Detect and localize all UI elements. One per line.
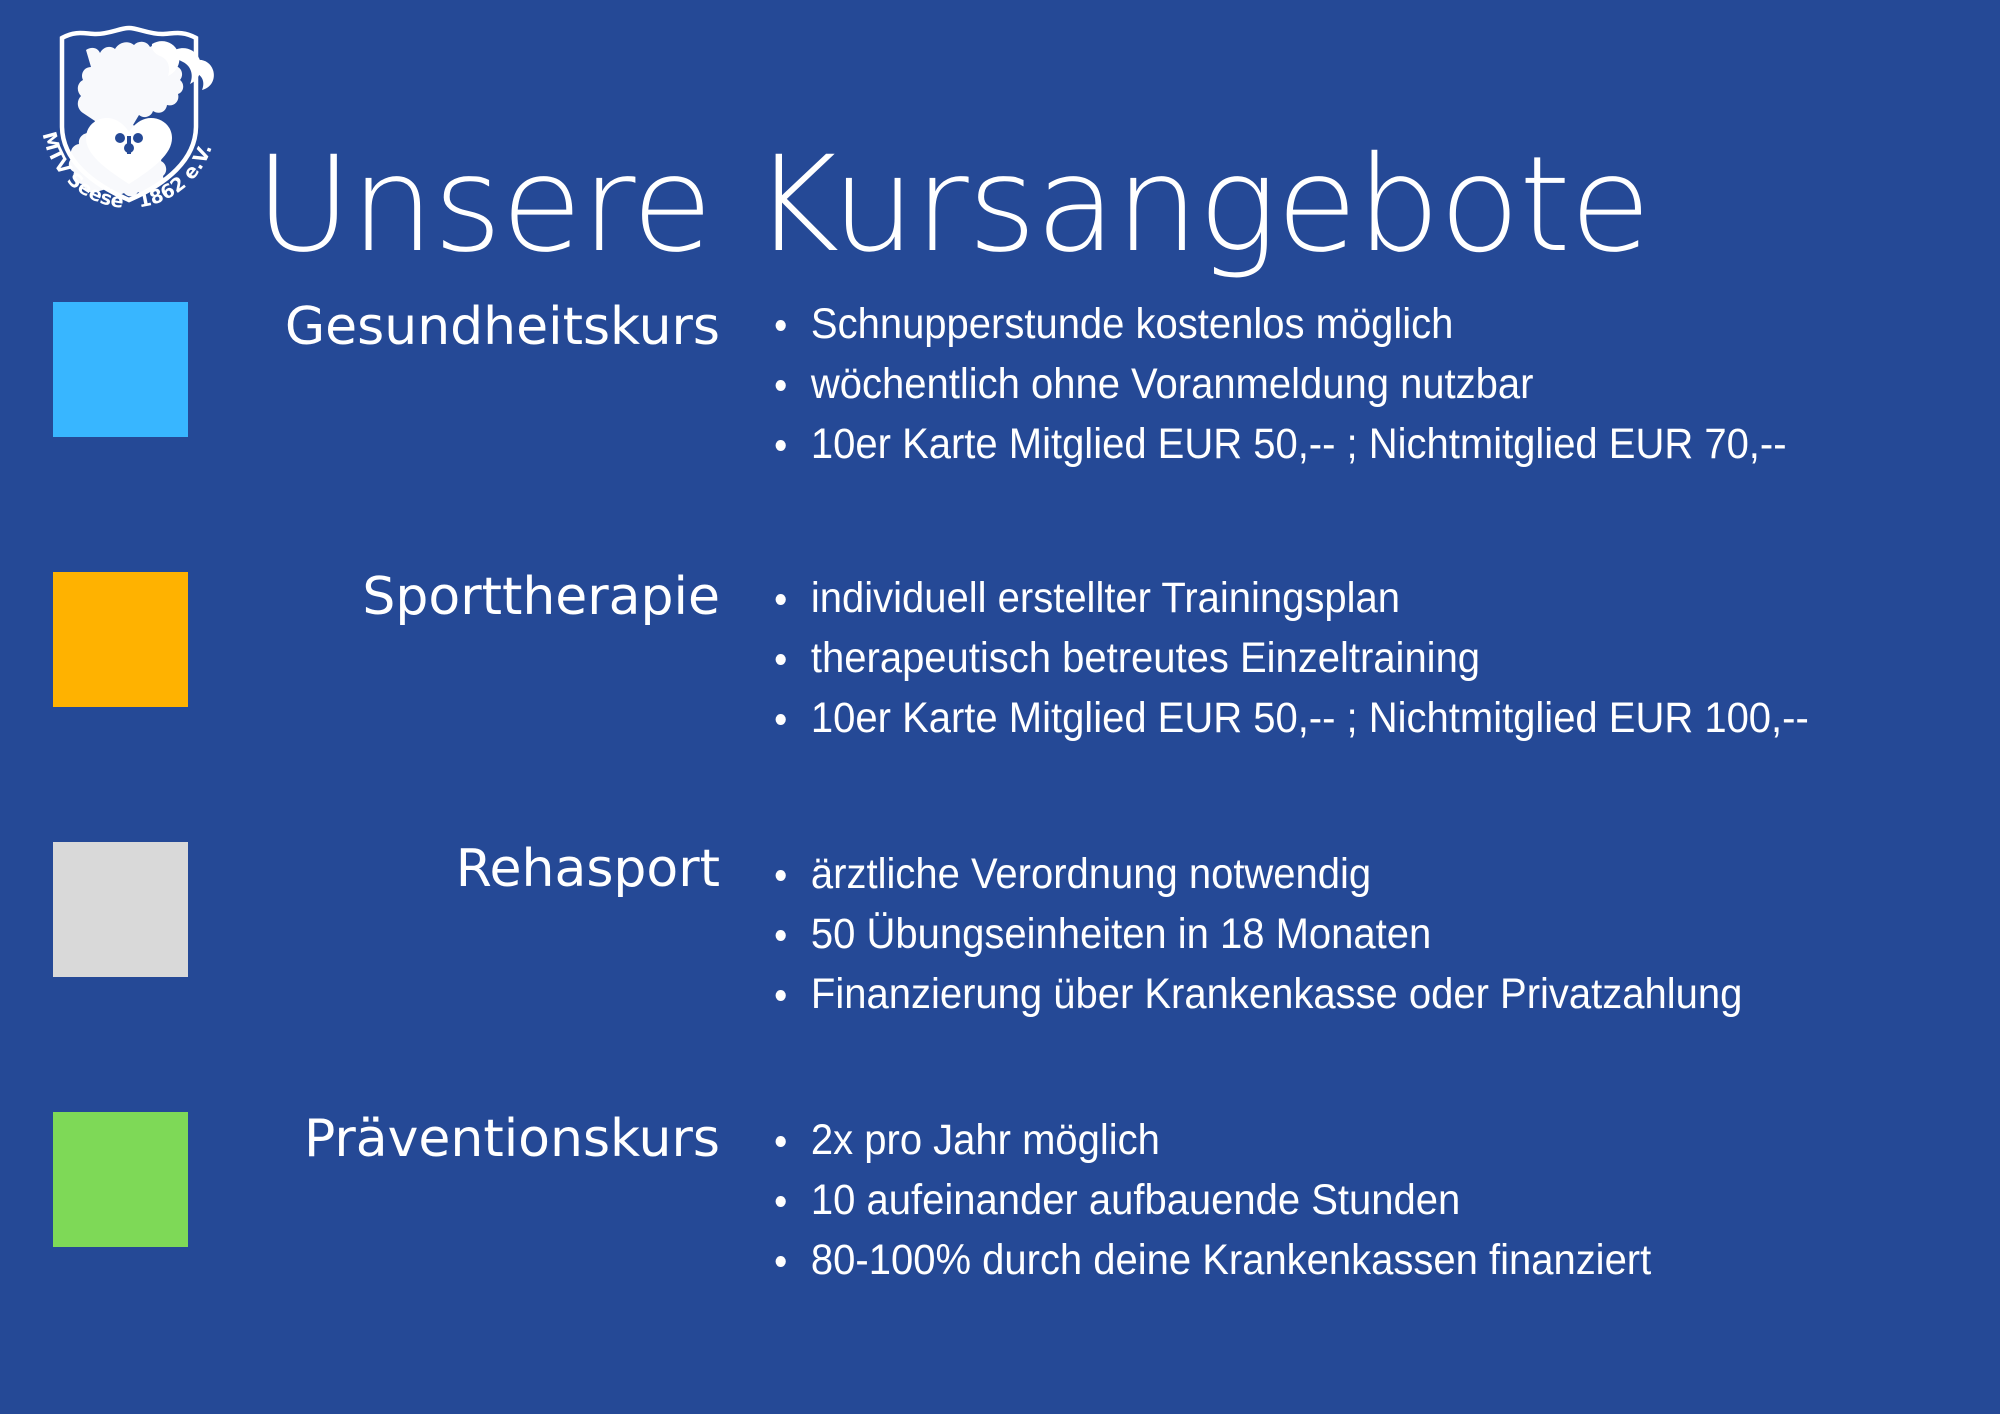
color-swatch-rehasport — [53, 842, 188, 977]
color-swatch-gesundheitskurs — [53, 302, 188, 437]
bullet-dot-icon — [776, 1256, 786, 1267]
list-item: 50 Übungseinheiten in 18 Monaten — [770, 904, 1914, 964]
color-swatch-sporttherapie — [53, 572, 188, 707]
bullet-dot-icon — [776, 594, 786, 605]
course-section-gesundheitskurs: Gesundheitskurs Schnupperstunde kostenlo… — [0, 276, 2000, 546]
bullet-text: 10er Karte Mitglied EUR 50,-- ; Nichtmit… — [811, 420, 1787, 468]
course-section-sporttherapie: Sporttherapie individuell erstellter Tra… — [0, 546, 2000, 816]
bullet-text: 10er Karte Mitglied EUR 50,-- ; Nichtmit… — [811, 694, 1809, 742]
course-section-rehasport: Rehasport ärztliche Verordnung notwendig… — [0, 816, 2000, 1086]
course-bullets-praeventionskurs: 2x pro Jahr möglich 10 aufeinander aufba… — [770, 1110, 2000, 1290]
list-item: 10er Karte Mitglied EUR 50,-- ; Nichtmit… — [770, 414, 1914, 474]
page-title: Unsere Kursangebote — [255, 136, 1955, 276]
course-title-rehasport: Rehasport — [200, 842, 720, 897]
bullet-dot-icon — [776, 654, 786, 665]
list-item: 10er Karte Mitglied EUR 50,-- ; Nichtmit… — [770, 688, 1914, 748]
list-item: Finanzierung über Krankenkasse oder Priv… — [770, 964, 1914, 1024]
bullet-text: wöchentlich ohne Voranmeldung nutzbar — [811, 360, 1534, 408]
bullet-dot-icon — [776, 1136, 786, 1147]
list-item: 10 aufeinander aufbauende Stunden — [770, 1170, 1914, 1230]
bullet-text: Schnupperstunde kostenlos möglich — [811, 300, 1453, 348]
bullet-text: ärztliche Verordnung notwendig — [811, 850, 1371, 898]
bullet-dot-icon — [776, 1196, 786, 1207]
course-title-sporttherapie: Sporttherapie — [200, 570, 720, 625]
course-bullets-sporttherapie: individuell erstellter Trainingsplan the… — [770, 568, 2000, 748]
bullet-dot-icon — [776, 380, 786, 391]
bullet-text: 80-100% durch deine Krankenkassen finanz… — [811, 1236, 1651, 1284]
bullet-dot-icon — [776, 870, 786, 881]
list-item: 2x pro Jahr möglich — [770, 1110, 1914, 1170]
course-sections: Gesundheitskurs Schnupperstunde kostenlo… — [0, 276, 2000, 1356]
list-item: individuell erstellter Trainingsplan — [770, 568, 1914, 628]
bullet-text: individuell erstellter Trainingsplan — [811, 574, 1400, 622]
bullet-dot-icon — [776, 930, 786, 941]
bullet-text: 10 aufeinander aufbauende Stunden — [811, 1176, 1460, 1224]
course-bullets-gesundheitskurs: Schnupperstunde kostenlos möglich wöchen… — [770, 294, 2000, 474]
bullet-text: 50 Übungseinheiten in 18 Monaten — [811, 910, 1431, 958]
list-item: ärztliche Verordnung notwendig — [770, 844, 1914, 904]
bullet-dot-icon — [776, 320, 786, 331]
crest-icon: MTV Seesen v. 1862 e.V. — [24, 8, 234, 218]
bullet-text: therapeutisch betreutes Einzeltraining — [811, 634, 1480, 682]
bullet-dot-icon — [776, 714, 786, 725]
color-swatch-praeventionskurs — [53, 1112, 188, 1247]
list-item: therapeutisch betreutes Einzeltraining — [770, 628, 1914, 688]
list-item: Schnupperstunde kostenlos möglich — [770, 294, 1914, 354]
bullet-text: Finanzierung über Krankenkasse oder Priv… — [811, 970, 1742, 1018]
club-logo: MTV Seesen v. 1862 e.V. — [24, 8, 234, 218]
list-item: 80-100% durch deine Krankenkassen finanz… — [770, 1230, 1914, 1290]
course-bullets-rehasport: ärztliche Verordnung notwendig 50 Übungs… — [770, 844, 2000, 1024]
course-section-praeventionskurs: Präventionskurs 2x pro Jahr möglich 10 a… — [0, 1086, 2000, 1356]
bullet-dot-icon — [776, 990, 786, 1001]
poster-canvas: MTV Seesen v. 1862 e.V. Unsere Kursangeb… — [0, 0, 2000, 1414]
course-title-gesundheitskurs: Gesundheitskurs — [200, 300, 720, 355]
course-title-praeventionskurs: Präventionskurs — [200, 1112, 720, 1167]
bullet-dot-icon — [776, 440, 786, 451]
bullet-text: 2x pro Jahr möglich — [811, 1116, 1160, 1164]
list-item: wöchentlich ohne Voranmeldung nutzbar — [770, 354, 1914, 414]
